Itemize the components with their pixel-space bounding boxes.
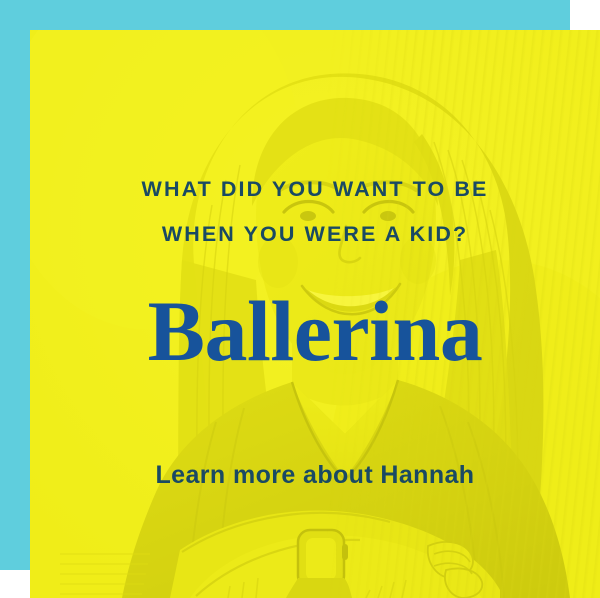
answer-text: Ballerina [30, 285, 600, 377]
headline-line-2: WHEN YOU WERE A KID? [30, 212, 600, 257]
card-panel: WHAT DID YOU WANT TO BE WHEN YOU WERE A … [30, 30, 600, 598]
frame-accent-top [0, 0, 570, 31]
page-title: WHAT DID YOU WANT TO BE WHEN YOU WERE A … [30, 30, 600, 257]
profile-card: WHAT DID YOU WANT TO BE WHEN YOU WERE A … [0, 0, 600, 598]
frame-accent-left [0, 0, 31, 570]
card-content: WHAT DID YOU WANT TO BE WHEN YOU WERE A … [30, 30, 600, 598]
headline-line-1: WHAT DID YOU WANT TO BE [30, 167, 600, 212]
learn-more-link[interactable]: Learn more about Hannah [30, 460, 600, 490]
